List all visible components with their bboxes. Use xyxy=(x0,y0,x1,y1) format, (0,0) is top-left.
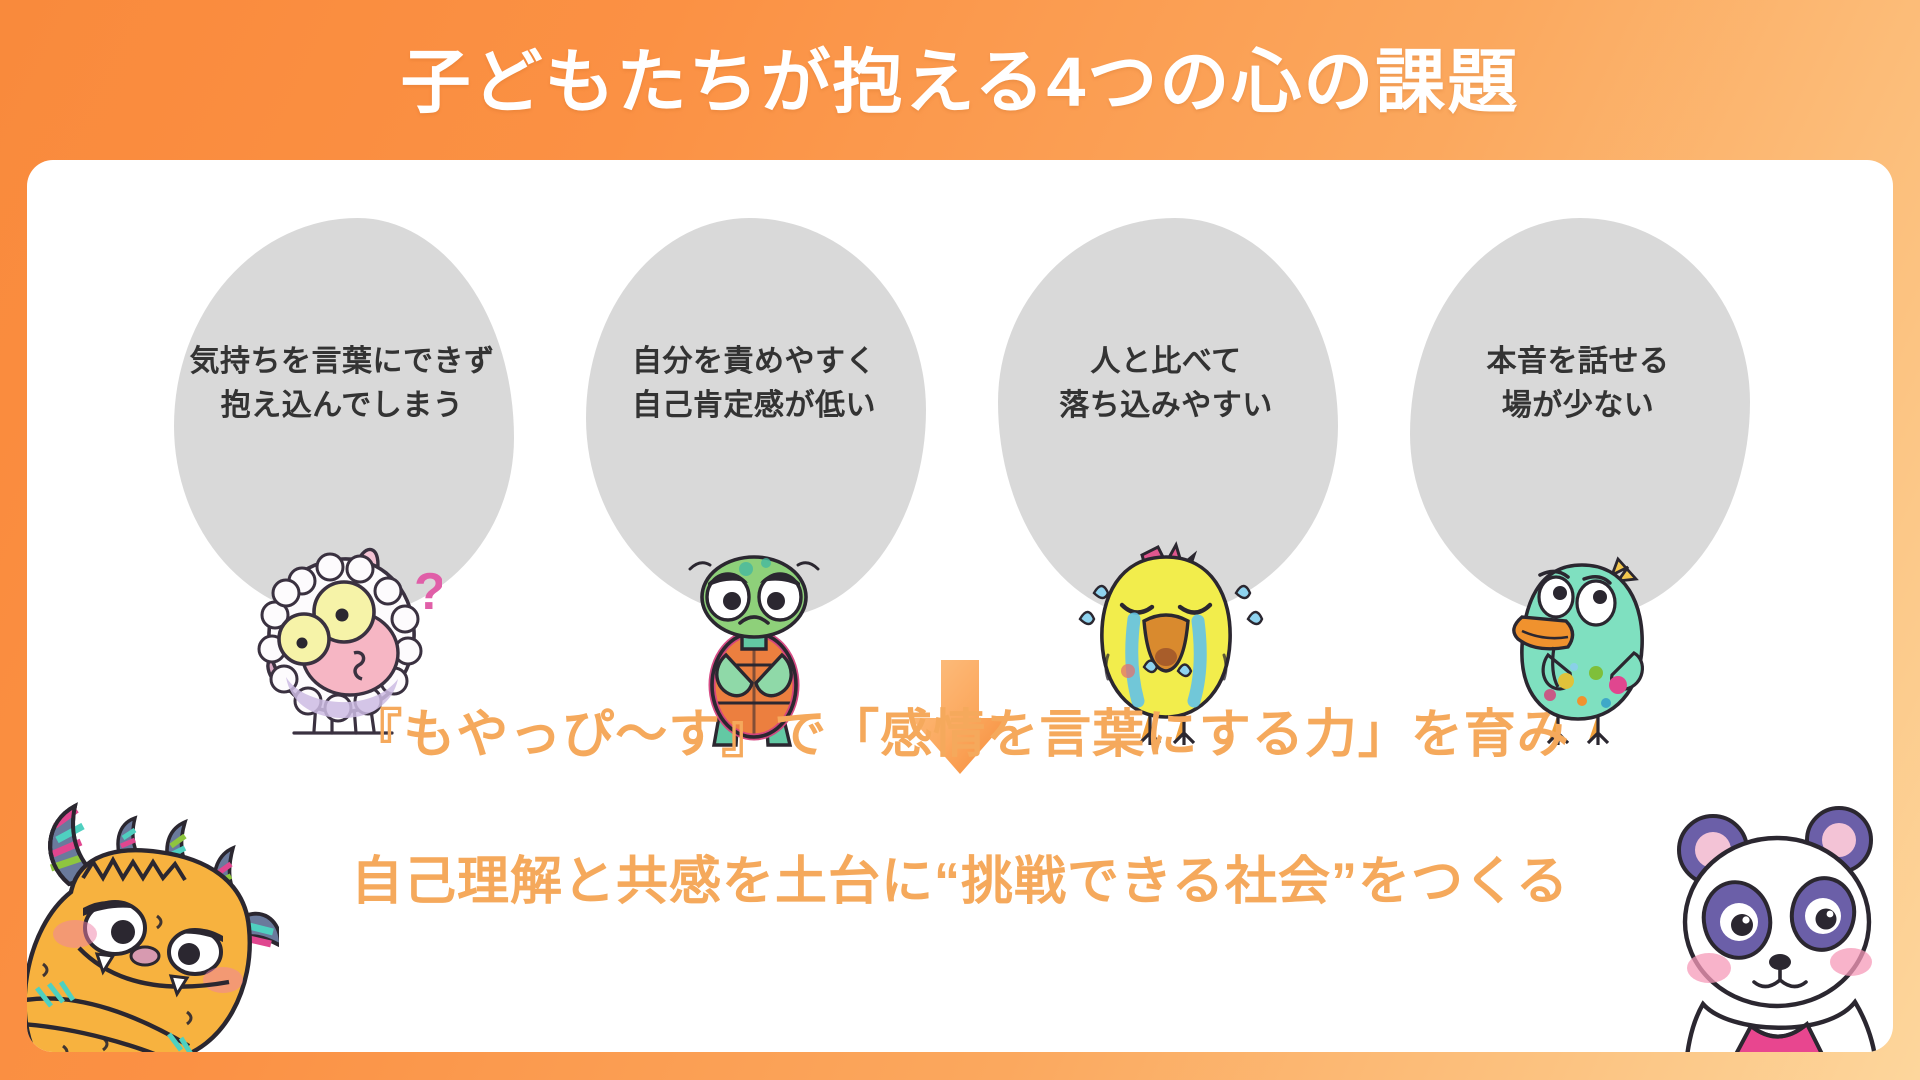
bubble-label-4: 本音を話せる 場が少ない xyxy=(1388,340,1768,428)
page-title: 子どもたちが抱える4つの心の課題 xyxy=(401,26,1520,127)
orange-monster-mascot xyxy=(27,788,279,1052)
mission-line-1: 『もやっぴ～す』で「感情を言葉にする力」を育み xyxy=(27,699,1893,773)
panda-mascot xyxy=(1647,796,1893,1052)
bubble-label-3: 人と比べて 落ち込みやすい xyxy=(976,340,1356,428)
bubble-label-1: 気持ちを言葉にできず 抱え込んでしまう xyxy=(152,340,532,428)
content-card: 気持ちを言葉にできず 抱え込んでしまう xyxy=(27,160,1893,1052)
mission-statement: 『もやっぴ～す』で「感情を言葉にする力」を育み 自己理解と共感を土台に“挑戦でき… xyxy=(27,625,1893,994)
bubble-label-2: 自分を責めやすく 自己肯定感が低い xyxy=(564,340,944,428)
mission-line-2: 自己理解と共感を土台に“挑戦できる社会”をつくる xyxy=(27,846,1893,920)
page-header: 子どもたちが抱える4つの心の課題 xyxy=(0,0,1920,152)
svg-text:?: ? xyxy=(414,563,442,621)
